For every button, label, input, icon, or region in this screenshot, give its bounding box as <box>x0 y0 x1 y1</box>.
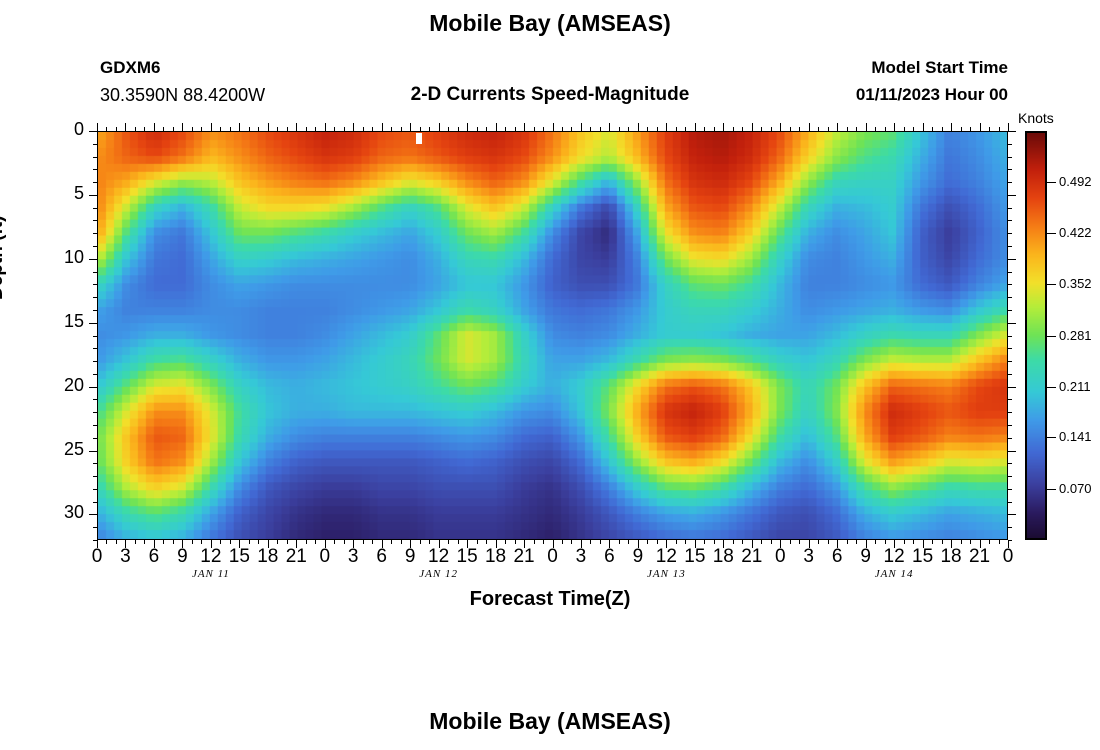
x-axis-minor-tick-top <box>600 127 601 131</box>
y-axis-tick-label: 0 <box>44 119 84 140</box>
y-axis-minor-tick-right <box>1008 412 1012 413</box>
x-axis-minor-tick-top <box>458 127 459 131</box>
x-axis-minor-tick <box>277 540 278 544</box>
x-axis-minor-tick <box>106 540 107 544</box>
x-axis-minor-tick-top <box>505 127 506 131</box>
x-axis-minor-tick-top <box>942 127 943 131</box>
x-axis-minor-tick-top <box>733 127 734 131</box>
y-axis-minor-tick <box>93 169 97 170</box>
x-axis-minor-tick <box>401 540 402 544</box>
model-start-time-label: Model Start Time <box>871 58 1008 78</box>
y-axis-major-tick <box>89 195 97 196</box>
y-axis-minor-tick-right <box>1008 297 1012 298</box>
x-axis-minor-tick <box>486 540 487 544</box>
y-axis-minor-tick <box>93 502 97 503</box>
y-axis-major-tick <box>89 514 97 515</box>
y-axis-minor-tick-right <box>1008 540 1012 541</box>
x-axis-minor-tick <box>287 540 288 544</box>
x-axis-minor-tick-top <box>277 127 278 131</box>
x-axis-minor-tick <box>372 540 373 544</box>
x-axis-minor-tick-top <box>761 127 762 131</box>
y-axis-tick-label: 15 <box>44 311 84 332</box>
x-axis-major-tick-top <box>125 123 126 131</box>
colorbar-tick <box>1047 336 1056 337</box>
colorbar <box>1025 131 1047 540</box>
y-axis-minor-tick-right <box>1008 527 1012 528</box>
y-axis-minor-tick <box>93 272 97 273</box>
x-axis-major-tick-top <box>866 123 867 131</box>
y-axis-minor-tick <box>93 399 97 400</box>
y-axis-minor-tick <box>93 336 97 337</box>
colorbar-tick-label: 0.211 <box>1059 379 1091 394</box>
x-axis-major-tick-top <box>296 123 297 131</box>
x-axis-minor-tick <box>220 540 221 544</box>
x-axis-major-tick-top <box>410 123 411 131</box>
x-axis-major-tick-top <box>837 123 838 131</box>
x-axis-major-tick-top <box>951 123 952 131</box>
x-axis-minor-tick-top <box>799 127 800 131</box>
y-axis-minor-tick <box>93 476 97 477</box>
x-axis-minor-tick <box>144 540 145 544</box>
x-axis-minor-tick-top <box>828 127 829 131</box>
y-axis-minor-tick-right <box>1008 310 1012 311</box>
x-axis-major-tick-top <box>695 123 696 131</box>
x-axis-minor-tick <box>344 540 345 544</box>
x-axis-day-label: JAN 13 <box>621 568 711 580</box>
x-axis-major-tick-top <box>809 123 810 131</box>
colorbar-tick-label: 0.352 <box>1059 276 1092 291</box>
colorbar-gradient <box>1027 133 1045 538</box>
x-axis-minor-tick-top <box>315 127 316 131</box>
x-axis-major-tick-top <box>723 123 724 131</box>
x-axis-minor-tick <box>742 540 743 544</box>
y-axis-minor-tick <box>93 438 97 439</box>
x-axis-minor-tick <box>685 540 686 544</box>
x-axis-minor-tick <box>420 540 421 544</box>
x-axis-minor-tick <box>799 540 800 544</box>
colorbar-tick-label: 0.492 <box>1059 174 1092 189</box>
x-axis-minor-tick-top <box>372 127 373 131</box>
x-axis-minor-tick <box>429 540 430 544</box>
x-axis-minor-tick <box>761 540 762 544</box>
x-axis-day-label: JAN 14 <box>849 568 939 580</box>
y-axis-minor-tick <box>93 361 97 362</box>
y-axis-minor-tick-right <box>1008 463 1012 464</box>
x-axis-minor-tick-top <box>647 127 648 131</box>
x-axis-minor-tick <box>885 540 886 544</box>
y-axis-minor-tick <box>93 374 97 375</box>
x-axis-minor-tick-top <box>391 127 392 131</box>
x-axis-minor-tick <box>173 540 174 544</box>
x-axis-minor-tick-top <box>192 127 193 131</box>
x-axis-minor-tick <box>477 540 478 544</box>
y-axis-minor-tick-right <box>1008 374 1012 375</box>
x-axis-minor-tick-top <box>628 127 629 131</box>
x-axis-minor-tick <box>534 540 535 544</box>
x-axis-minor-tick-top <box>173 127 174 131</box>
model-start-time-value: 01/11/2023 Hour 00 <box>856 85 1008 105</box>
x-axis-major-tick-top <box>980 123 981 131</box>
x-axis-minor-tick-top <box>429 127 430 131</box>
y-axis-minor-tick <box>93 182 97 183</box>
x-axis-minor-tick <box>192 540 193 544</box>
x-axis-major-tick-top <box>581 123 582 131</box>
x-axis-title: Forecast Time(Z) <box>0 588 1100 611</box>
x-axis-minor-tick <box>163 540 164 544</box>
x-axis-minor-tick-top <box>590 127 591 131</box>
x-axis-minor-tick <box>818 540 819 544</box>
y-axis-tick-label: 30 <box>44 502 84 523</box>
y-axis-minor-tick-right <box>1008 220 1012 221</box>
x-axis-minor-tick-top <box>989 127 990 131</box>
x-axis-minor-tick <box>363 540 364 544</box>
y-axis-minor-tick-right <box>1008 476 1012 477</box>
x-axis-minor-tick <box>657 540 658 544</box>
y-axis-minor-tick-right <box>1008 284 1012 285</box>
y-axis-minor-tick-right <box>1008 336 1012 337</box>
y-axis-minor-tick-right <box>1008 361 1012 362</box>
x-axis-minor-tick <box>970 540 971 544</box>
x-axis-major-tick-top <box>268 123 269 131</box>
heatmap-plot-area <box>97 131 1008 540</box>
x-axis-minor-tick-top <box>116 127 117 131</box>
y-axis-minor-tick-right <box>1008 438 1012 439</box>
y-axis-minor-tick <box>93 540 97 541</box>
x-axis-minor-tick-top <box>201 127 202 131</box>
x-axis-minor-tick-top <box>230 127 231 131</box>
y-axis-minor-tick-right <box>1008 489 1012 490</box>
y-axis-minor-tick-right <box>1008 272 1012 273</box>
x-axis-minor-tick <box>315 540 316 544</box>
x-axis-minor-tick-top <box>249 127 250 131</box>
y-axis-minor-tick-right <box>1008 348 1012 349</box>
x-axis-minor-tick <box>790 540 791 544</box>
y-axis-minor-tick-right <box>1008 157 1012 158</box>
x-axis-minor-tick <box>201 540 202 544</box>
y-axis-minor-tick-right <box>1008 169 1012 170</box>
y-axis-title: Depth (ft) <box>0 216 8 300</box>
x-axis-minor-tick-top <box>220 127 221 131</box>
x-axis-minor-tick-top <box>961 127 962 131</box>
y-axis-tick-label: 25 <box>44 439 84 460</box>
colorbar-tick <box>1047 387 1056 388</box>
y-axis-minor-tick <box>93 310 97 311</box>
x-axis-minor-tick <box>562 540 563 544</box>
x-axis-minor-tick <box>258 540 259 544</box>
x-axis-minor-tick-top <box>932 127 933 131</box>
x-axis-minor-tick-top <box>477 127 478 131</box>
x-axis-major-tick-top <box>353 123 354 131</box>
y-axis-tick-label: 20 <box>44 375 84 396</box>
x-axis-minor-tick <box>571 540 572 544</box>
x-axis-major-tick-top <box>154 123 155 131</box>
y-axis-minor-tick <box>93 220 97 221</box>
colorbar-tick-label: 0.141 <box>1059 429 1092 444</box>
y-axis-minor-tick <box>93 233 97 234</box>
colorbar-tick-label: 0.281 <box>1059 328 1092 343</box>
x-axis-minor-tick <box>704 540 705 544</box>
x-axis-minor-tick-top <box>676 127 677 131</box>
y-axis-major-tick-right <box>1008 131 1016 132</box>
colorbar-tick-label: 0.070 <box>1059 481 1092 496</box>
x-axis-minor-tick-top <box>486 127 487 131</box>
figure-canvas: Mobile Bay (AMSEAS) GDXM6 30.3590N 88.42… <box>0 0 1100 750</box>
x-axis-minor-tick <box>590 540 591 544</box>
x-axis-minor-tick <box>306 540 307 544</box>
colorbar-tick <box>1047 233 1056 234</box>
x-axis-minor-tick-top <box>685 127 686 131</box>
y-axis-minor-tick-right <box>1008 399 1012 400</box>
x-axis-minor-tick-top <box>562 127 563 131</box>
x-axis-major-tick-top <box>1008 123 1009 131</box>
x-axis-minor-tick-top <box>135 127 136 131</box>
heatmap-image <box>98 132 1007 539</box>
x-axis-minor-tick <box>942 540 943 544</box>
x-axis-minor-tick-top <box>790 127 791 131</box>
colorbar-tick-label: 0.422 <box>1059 225 1092 240</box>
x-axis-minor-tick <box>448 540 449 544</box>
x-axis-major-tick-top <box>524 123 525 131</box>
colorbar-tick <box>1047 182 1056 183</box>
x-axis-minor-tick <box>135 540 136 544</box>
x-axis-minor-tick-top <box>344 127 345 131</box>
x-axis-major-tick-top <box>211 123 212 131</box>
x-axis-minor-tick <box>714 540 715 544</box>
x-axis-minor-tick <box>828 540 829 544</box>
x-axis-minor-tick <box>847 540 848 544</box>
x-axis-minor-tick <box>334 540 335 544</box>
x-axis-minor-tick-top <box>401 127 402 131</box>
station-id: GDXM6 <box>100 58 160 78</box>
y-axis-minor-tick <box>93 208 97 209</box>
x-axis-minor-tick-top <box>714 127 715 131</box>
y-axis-minor-tick-right <box>1008 233 1012 234</box>
x-axis-minor-tick-top <box>885 127 886 131</box>
x-axis-day-label: JAN 11 <box>166 568 256 580</box>
x-axis-minor-tick-top <box>742 127 743 131</box>
y-axis-tick-label: 10 <box>44 247 84 268</box>
y-axis-minor-tick <box>93 284 97 285</box>
x-axis-minor-tick-top <box>999 127 1000 131</box>
x-axis-minor-tick-top <box>571 127 572 131</box>
x-axis-minor-tick <box>961 540 962 544</box>
x-axis-major-tick-top <box>382 123 383 131</box>
x-axis-minor-tick <box>230 540 231 544</box>
x-axis-major-tick-top <box>239 123 240 131</box>
x-axis-minor-tick <box>505 540 506 544</box>
y-axis-major-tick-right <box>1008 323 1016 324</box>
x-axis-minor-tick <box>676 540 677 544</box>
x-axis-minor-tick-top <box>515 127 516 131</box>
x-axis-minor-tick <box>619 540 620 544</box>
x-axis-major-tick-top <box>325 123 326 131</box>
page-title: Mobile Bay (AMSEAS) <box>0 10 1100 37</box>
x-axis-minor-tick <box>771 540 772 544</box>
y-axis-minor-tick-right <box>1008 144 1012 145</box>
x-axis-minor-tick <box>875 540 876 544</box>
x-axis-minor-tick <box>391 540 392 544</box>
x-axis-minor-tick <box>116 540 117 544</box>
x-axis-minor-tick-top <box>657 127 658 131</box>
y-axis-major-tick <box>89 131 97 132</box>
y-axis-major-tick-right <box>1008 259 1016 260</box>
x-axis-tick-label: 0 <box>988 546 1028 568</box>
plot-artifact-mark <box>416 133 422 144</box>
x-axis-major-tick-top <box>97 123 98 131</box>
x-axis-minor-tick <box>515 540 516 544</box>
x-axis-major-tick-top <box>638 123 639 131</box>
x-axis-minor-tick <box>249 540 250 544</box>
x-axis-minor-tick-top <box>856 127 857 131</box>
x-axis-minor-tick <box>458 540 459 544</box>
y-axis-major-tick <box>89 259 97 260</box>
y-axis-minor-tick-right <box>1008 425 1012 426</box>
x-axis-minor-tick-top <box>306 127 307 131</box>
x-axis-major-tick-top <box>496 123 497 131</box>
y-axis-major-tick-right <box>1008 387 1016 388</box>
x-axis-minor-tick-top <box>334 127 335 131</box>
colorbar-tick <box>1047 437 1056 438</box>
x-axis-minor-tick-top <box>163 127 164 131</box>
colorbar-title: Knots <box>1018 110 1054 126</box>
x-axis-minor-tick-top <box>363 127 364 131</box>
x-axis-minor-tick <box>904 540 905 544</box>
y-axis-minor-tick-right <box>1008 182 1012 183</box>
x-axis-major-tick-top <box>609 123 610 131</box>
y-axis-major-tick <box>89 451 97 452</box>
x-axis-minor-tick-top <box>258 127 259 131</box>
y-axis-minor-tick <box>93 489 97 490</box>
x-axis-major-tick-top <box>923 123 924 131</box>
x-axis-minor-tick-top <box>913 127 914 131</box>
y-axis-major-tick-right <box>1008 195 1016 196</box>
y-axis-minor-tick <box>93 527 97 528</box>
x-axis-major-tick-top <box>467 123 468 131</box>
x-axis-major-tick-top <box>553 123 554 131</box>
x-axis-minor-tick <box>932 540 933 544</box>
x-axis-major-tick-top <box>439 123 440 131</box>
x-axis-major-tick-top <box>752 123 753 131</box>
x-axis-minor-tick-top <box>287 127 288 131</box>
x-axis-major-tick-top <box>666 123 667 131</box>
x-axis-minor-tick <box>600 540 601 544</box>
y-axis-minor-tick <box>93 412 97 413</box>
x-axis-minor-tick <box>999 540 1000 544</box>
x-axis-minor-tick-top <box>818 127 819 131</box>
y-axis-minor-tick <box>93 157 97 158</box>
x-axis-minor-tick-top <box>904 127 905 131</box>
x-axis-minor-tick-top <box>875 127 876 131</box>
x-axis-day-label: JAN 12 <box>394 568 484 580</box>
x-axis-major-tick-top <box>780 123 781 131</box>
x-axis-minor-tick-top <box>771 127 772 131</box>
x-axis-minor-tick <box>913 540 914 544</box>
y-axis-minor-tick <box>93 297 97 298</box>
y-axis-minor-tick-right <box>1008 246 1012 247</box>
x-axis-minor-tick-top <box>970 127 971 131</box>
x-axis-minor-tick-top <box>448 127 449 131</box>
x-axis-minor-tick-top <box>543 127 544 131</box>
x-axis-minor-tick <box>647 540 648 544</box>
y-axis-tick-label: 5 <box>44 183 84 204</box>
x-axis-minor-tick-top <box>619 127 620 131</box>
y-axis-minor-tick <box>93 463 97 464</box>
page-title-bottom: Mobile Bay (AMSEAS) <box>0 708 1100 735</box>
y-axis-minor-tick-right <box>1008 208 1012 209</box>
y-axis-major-tick <box>89 387 97 388</box>
x-axis-major-tick-top <box>894 123 895 131</box>
x-axis-minor-tick-top <box>847 127 848 131</box>
x-axis-minor-tick <box>856 540 857 544</box>
y-axis-minor-tick <box>93 425 97 426</box>
colorbar-tick <box>1047 284 1056 285</box>
x-axis-minor-tick-top <box>144 127 145 131</box>
x-axis-minor-tick-top <box>704 127 705 131</box>
colorbar-tick <box>1047 489 1056 490</box>
x-axis-minor-tick-top <box>106 127 107 131</box>
y-axis-minor-tick <box>93 348 97 349</box>
y-axis-major-tick-right <box>1008 451 1016 452</box>
y-axis-major-tick-right <box>1008 514 1016 515</box>
y-axis-minor-tick <box>93 246 97 247</box>
y-axis-minor-tick-right <box>1008 502 1012 503</box>
x-axis-minor-tick <box>543 540 544 544</box>
x-axis-minor-tick-top <box>534 127 535 131</box>
x-axis-minor-tick-top <box>420 127 421 131</box>
x-axis-major-tick-top <box>182 123 183 131</box>
y-axis-major-tick <box>89 323 97 324</box>
x-axis-minor-tick <box>989 540 990 544</box>
y-axis-minor-tick <box>93 144 97 145</box>
x-axis-minor-tick <box>628 540 629 544</box>
x-axis-minor-tick <box>733 540 734 544</box>
